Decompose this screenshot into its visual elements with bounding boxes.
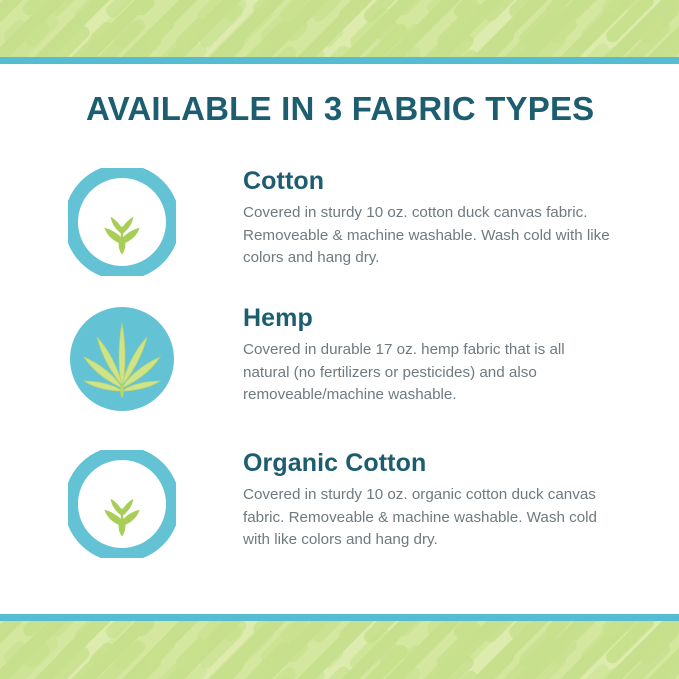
infographic-page: AVAILABLE IN 3 FABRIC TYPES Cotton Cove	[0, 0, 679, 679]
bottom-band-dash-layer	[0, 614, 679, 679]
item-heading-cotton: Cotton	[243, 168, 643, 194]
top-band-green-pattern	[0, 0, 679, 57]
top-pattern-band	[0, 0, 679, 64]
cotton-boll-icon	[68, 168, 176, 276]
top-band-teal-rule	[0, 57, 679, 64]
cotton-text-block: Cotton Covered in sturdy 10 oz. cotton d…	[243, 168, 643, 269]
list-item-organic-cotton: Organic Cotton Covered in sturdy 10 oz. …	[0, 450, 679, 580]
item-body-hemp: Covered in durable 17 oz. hemp fabric th…	[243, 339, 615, 406]
top-band-dash-layer	[0, 0, 679, 64]
bottom-band-teal-rule	[0, 614, 679, 621]
pattern-dash	[300, 666, 327, 679]
item-body-cotton: Covered in sturdy 10 oz. cotton duck can…	[243, 202, 615, 269]
bottom-pattern-band	[0, 614, 679, 679]
pattern-dash	[20, 0, 52, 18]
cotton-boll-icon	[68, 450, 176, 558]
hemp-leaf-icon	[68, 305, 176, 413]
list-item-hemp: Hemp Covered in durable 17 oz. hemp fabr…	[0, 305, 679, 435]
item-body-organic-cotton: Covered in sturdy 10 oz. organic cotton …	[243, 484, 615, 551]
hemp-text-block: Hemp Covered in durable 17 oz. hemp fabr…	[243, 305, 643, 406]
list-item-cotton: Cotton Covered in sturdy 10 oz. cotton d…	[0, 168, 679, 298]
item-heading-organic-cotton: Organic Cotton	[243, 450, 643, 476]
bottom-band-green-pattern	[0, 621, 679, 679]
pattern-dash	[132, 0, 157, 18]
organic-cotton-text-block: Organic Cotton Covered in sturdy 10 oz. …	[243, 450, 643, 551]
page-title: AVAILABLE IN 3 FABRIC TYPES	[86, 90, 594, 128]
item-heading-hemp: Hemp	[243, 305, 643, 331]
